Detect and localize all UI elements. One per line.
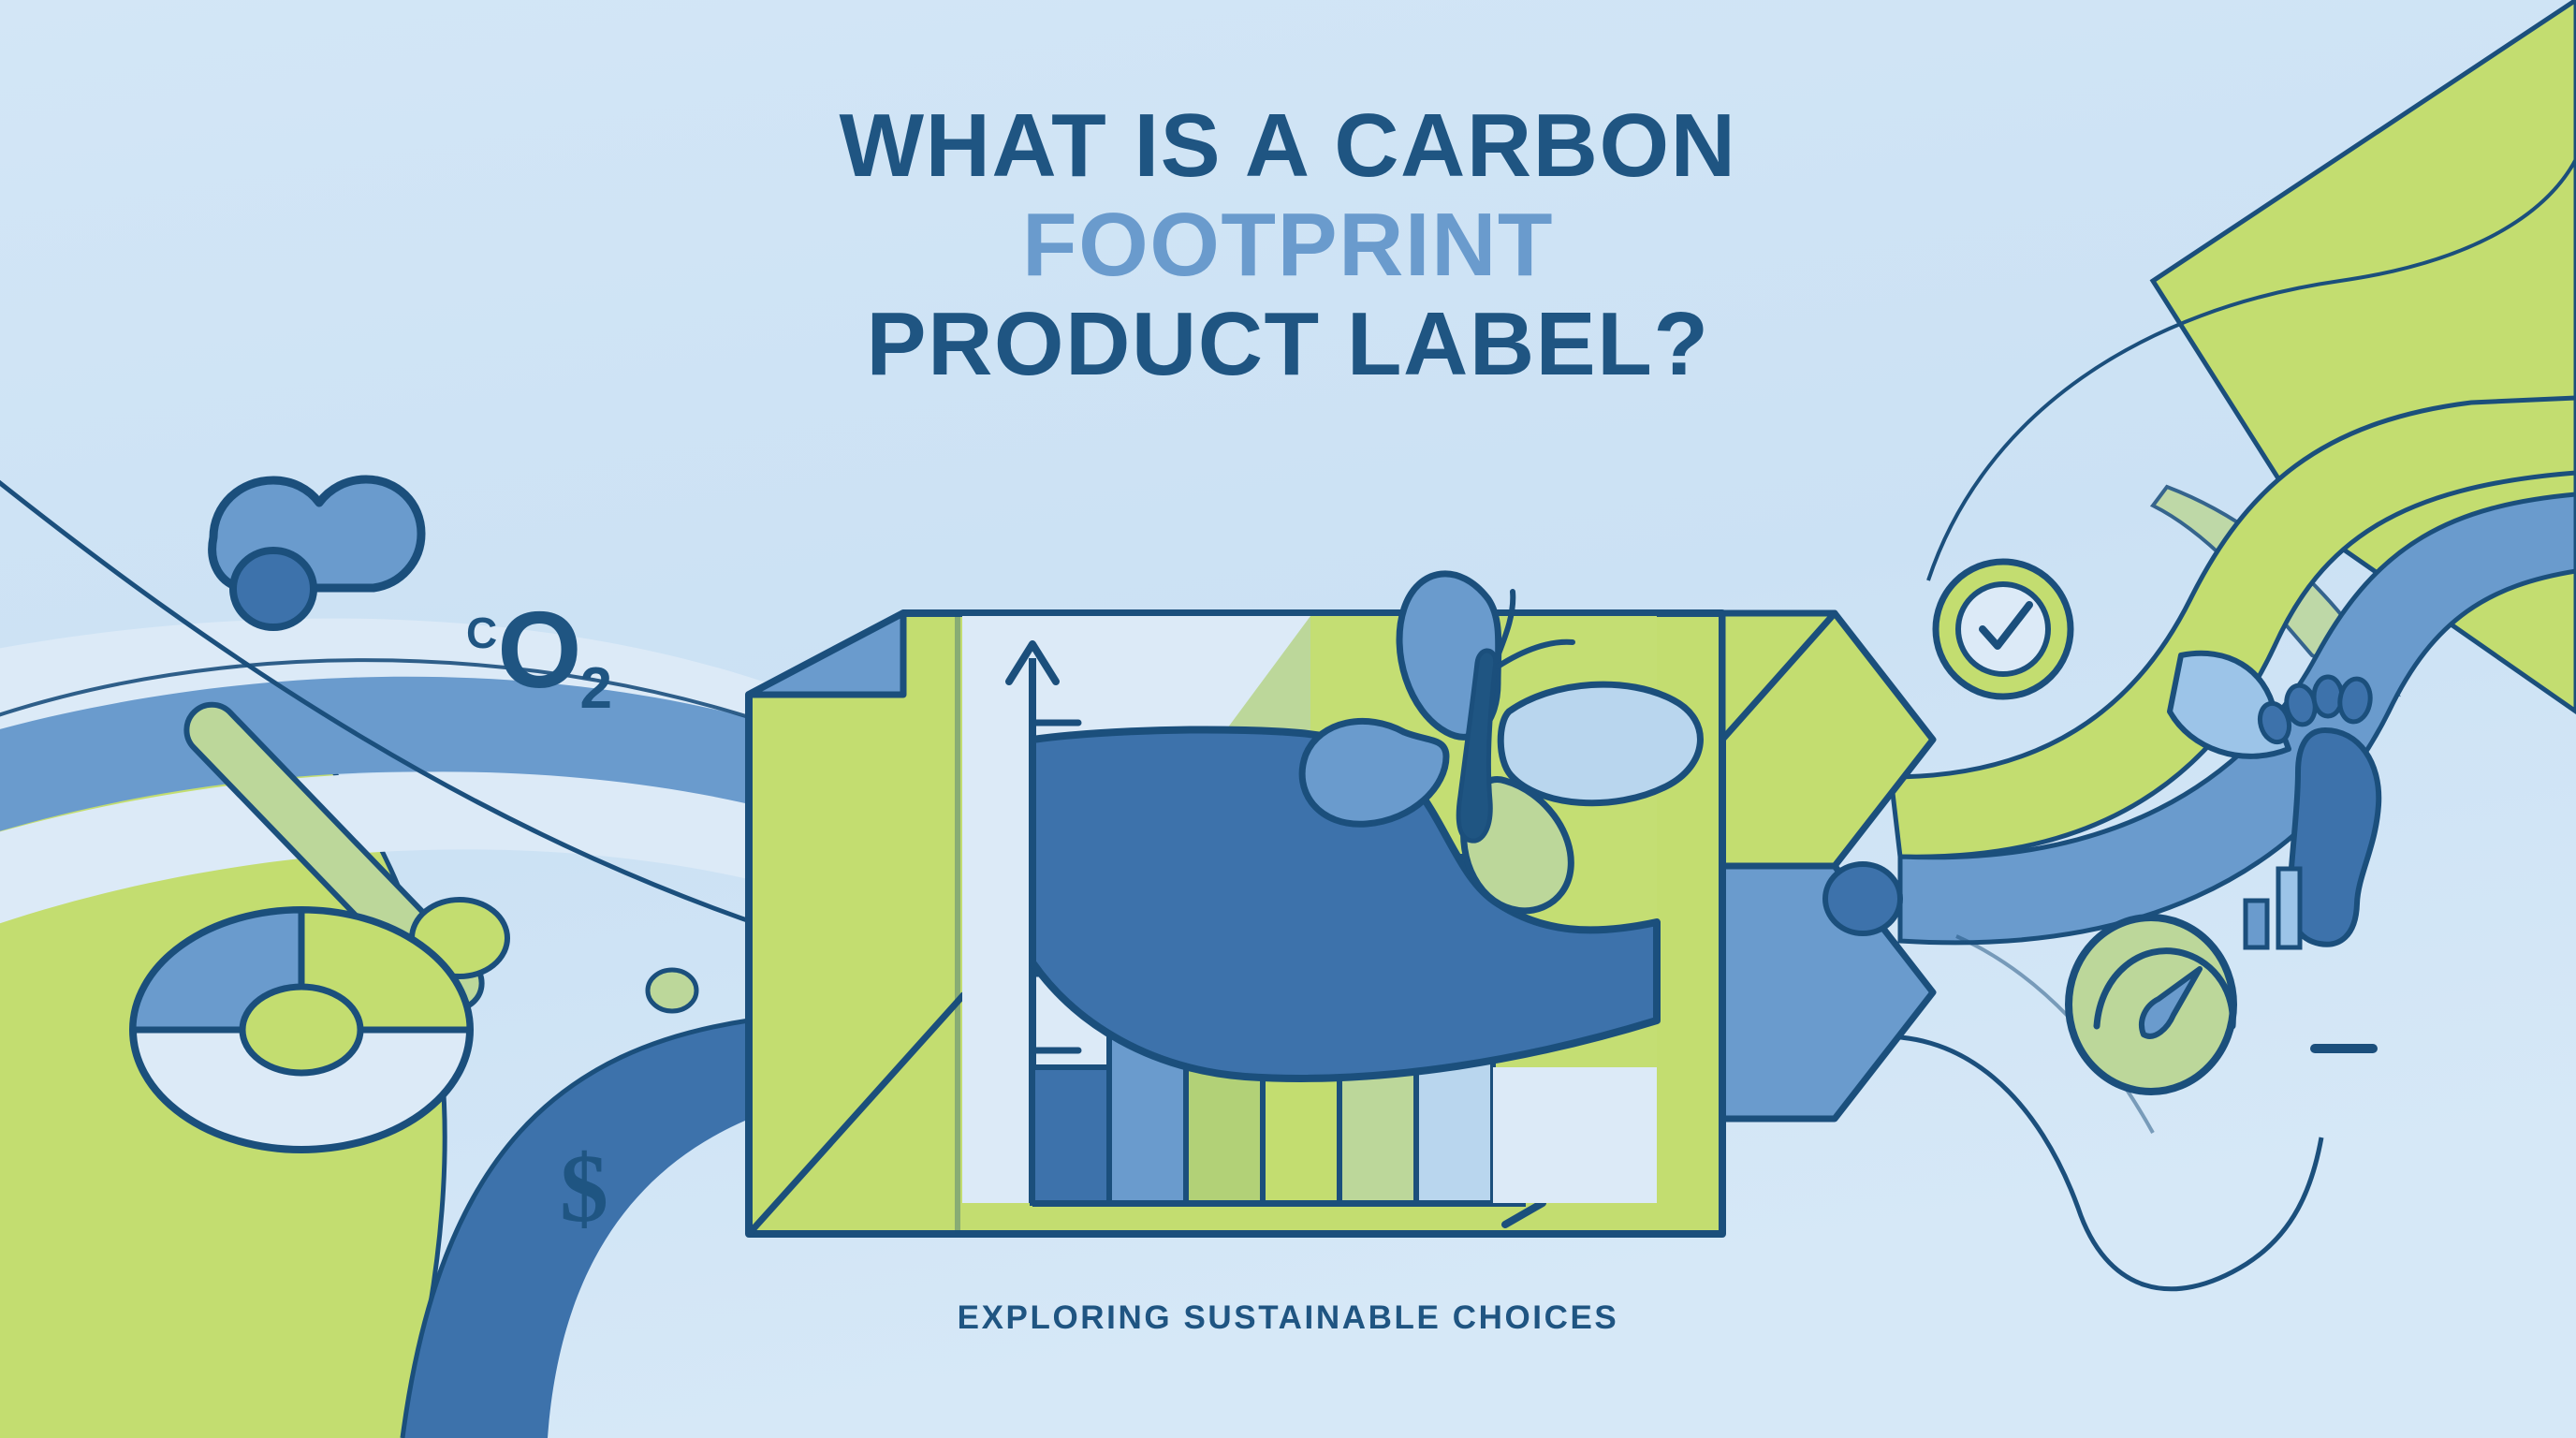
dollar-sign-icon: $	[560, 1140, 608, 1238]
dash-icon	[2310, 1044, 2378, 1053]
co2-element: O	[497, 589, 579, 711]
accent-dot-green-small	[648, 970, 696, 1011]
co2-subscript: 2	[579, 656, 611, 721]
product-box-icon	[749, 574, 1722, 1234]
subtitle-text: EXPLORING SUSTAINABLE CHOICES	[0, 1299, 2576, 1337]
co2-prefix: C	[466, 609, 497, 657]
check-circle-icon	[1936, 562, 2071, 697]
bar-7	[1493, 1067, 1568, 1203]
gauge-icon	[2069, 917, 2233, 1092]
droplet-icon	[233, 550, 314, 627]
pie-chart-icon	[133, 910, 470, 1150]
co2-formula: CO2	[466, 595, 612, 718]
illustration-layer	[0, 0, 2576, 1438]
poster-canvas: WHAT IS A CARBON FOOTPRINT PRODUCT LABEL…	[0, 0, 2576, 1438]
price-tag-hole	[1825, 864, 1900, 933]
bar-1	[1032, 1067, 1109, 1203]
